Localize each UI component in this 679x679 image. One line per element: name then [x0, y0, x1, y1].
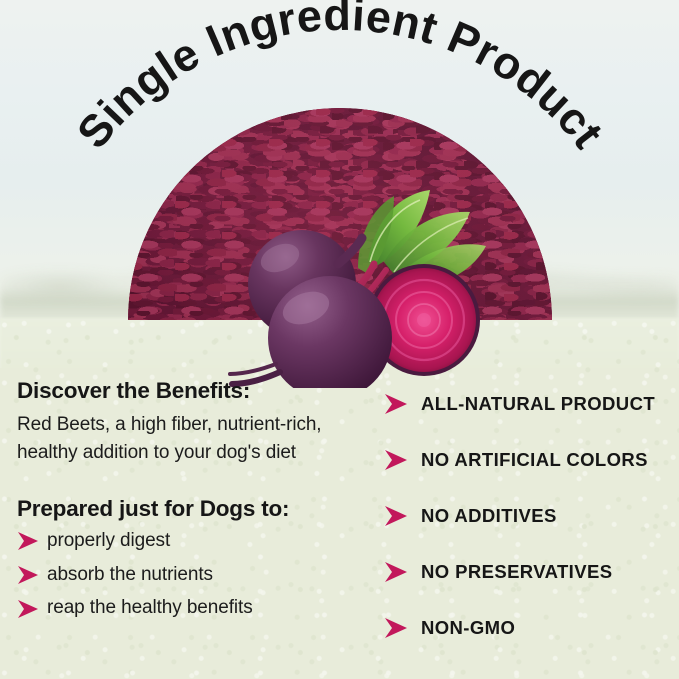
- beet-cluster-image: [218, 188, 488, 388]
- benefits-heading: Discover the Benefits:: [17, 378, 372, 405]
- claims-column: ALL-NATURAL PRODUCT NO ARTIFICIAL COLORS…: [372, 368, 679, 679]
- list-item-label: reap the healthy benefits: [47, 597, 253, 620]
- list-item-label: absorb the nutrients: [47, 564, 213, 587]
- list-item: NO ARTIFICIAL COLORS: [376, 432, 679, 488]
- list-item: absorb the nutrients: [17, 564, 372, 587]
- arrow-bullet-icon: [384, 618, 407, 638]
- claim-label: NO PRESERVATIVES: [421, 561, 612, 583]
- claim-label: NON-GMO: [421, 617, 515, 639]
- arrow-bullet-icon: [384, 562, 407, 582]
- claim-label: NO ARTIFICIAL COLORS: [421, 449, 648, 471]
- arrow-bullet-icon: [17, 532, 38, 550]
- arrow-bullet-icon: [17, 600, 38, 618]
- list-item: reap the healthy benefits: [17, 597, 372, 620]
- claim-label: NO ADDITIVES: [421, 505, 557, 527]
- arrow-bullet-icon: [17, 566, 38, 584]
- list-item-label: properly digest: [47, 530, 170, 553]
- list-item: ALL-NATURAL PRODUCT: [376, 376, 679, 432]
- arrow-bullet-icon: [384, 450, 407, 470]
- content-area: Discover the Benefits: Red Beets, a high…: [0, 368, 679, 679]
- list-item: NO PRESERVATIVES: [376, 544, 679, 600]
- list-item: NO ADDITIVES: [376, 488, 679, 544]
- arrow-bullet-icon: [384, 506, 407, 526]
- prepared-list: properly digest absorb the nutrients rea…: [17, 530, 372, 620]
- claim-label: ALL-NATURAL PRODUCT: [421, 393, 655, 415]
- product-infographic: Single Ingredient Product Discover the B…: [0, 0, 679, 679]
- benefits-body: Red Beets, a high fiber, nutrient-rich, …: [17, 411, 337, 469]
- claims-list: ALL-NATURAL PRODUCT NO ARTIFICIAL COLORS…: [376, 376, 679, 656]
- arrow-bullet-icon: [384, 394, 407, 414]
- benefits-column: Discover the Benefits: Red Beets, a high…: [0, 368, 372, 679]
- prepared-heading: Prepared just for Dogs to:: [17, 496, 372, 523]
- list-item: properly digest: [17, 530, 372, 553]
- list-item: NON-GMO: [376, 600, 679, 656]
